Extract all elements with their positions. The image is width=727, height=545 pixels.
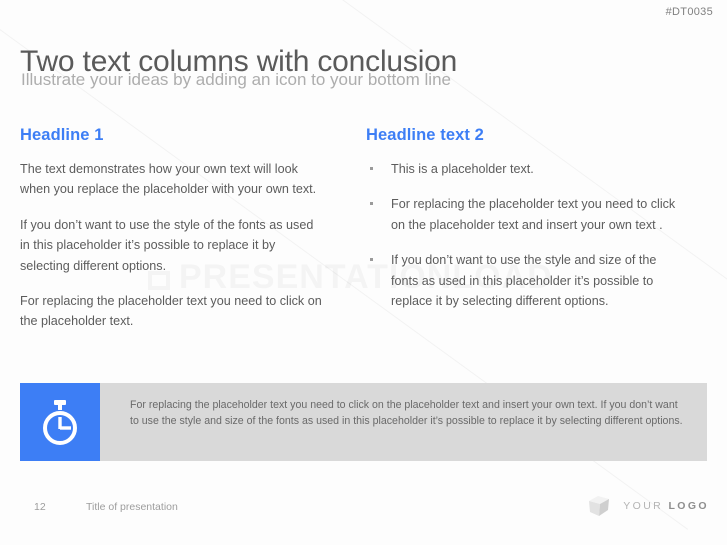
stopwatch-icon — [37, 398, 83, 446]
list-item-label: For replacing the placeholder text you n… — [391, 197, 675, 231]
footer-presentation-title: Title of presentation — [86, 501, 178, 513]
conclusion-text-panel: For replacing the placeholder text you n… — [100, 383, 707, 461]
logo-text-bold: LOGO — [668, 500, 709, 512]
right-text-column: Headline text 2 This is a placeholder te… — [366, 126, 686, 311]
left-paragraph[interactable]: For replacing the placeholder text you n… — [20, 291, 325, 332]
conclusion-text[interactable]: For replacing the placeholder text you n… — [130, 397, 689, 430]
slide-canvas: PRESENTATIONLOAD #DT0035 Two text column… — [0, 0, 727, 545]
footer-page-number: 12 — [34, 501, 46, 513]
page-subtitle: Illustrate your ideas by adding an icon … — [21, 70, 451, 90]
left-text-column: Headline 1 The text demonstrates how you… — [20, 126, 325, 332]
cube-icon — [586, 493, 612, 519]
left-paragraph[interactable]: If you don’t want to use the style of th… — [20, 215, 325, 276]
list-item-label: This is a placeholder text. — [391, 162, 534, 176]
list-item[interactable]: This is a placeholder text. — [366, 159, 686, 179]
left-paragraph[interactable]: The text demonstrates how your own text … — [20, 159, 325, 200]
bullet-square-icon — [370, 167, 373, 170]
list-item-label: If you don’t want to use the style and s… — [391, 253, 656, 308]
list-item[interactable]: If you don’t want to use the style and s… — [366, 250, 686, 311]
right-bullet-list: This is a placeholder text. For replacin… — [366, 159, 686, 311]
right-column-headline: Headline text 2 — [366, 126, 686, 145]
logo-text-light: YOUR — [623, 500, 668, 512]
conclusion-icon-tile[interactable] — [20, 383, 100, 461]
bullet-square-icon — [370, 258, 373, 261]
conclusion-banner: For replacing the placeholder text you n… — [20, 383, 707, 461]
document-code: #DT0035 — [666, 6, 713, 18]
list-item[interactable]: For replacing the placeholder text you n… — [366, 194, 686, 235]
bullet-square-icon — [370, 202, 373, 205]
left-column-headline: Headline 1 — [20, 126, 325, 145]
logo-text: YOUR LOGO — [623, 500, 709, 512]
logo: YOUR LOGO — [586, 493, 709, 519]
